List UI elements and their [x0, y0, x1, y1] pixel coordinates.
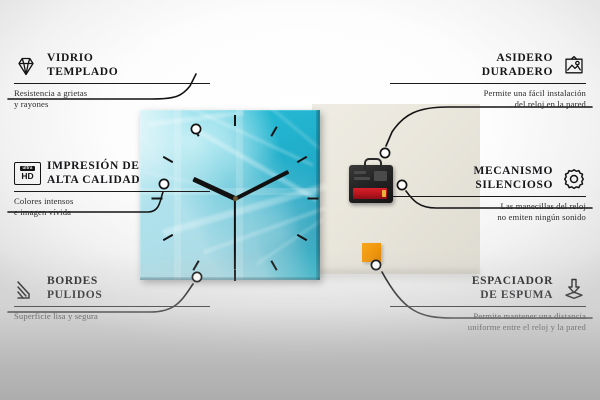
clock-tick	[270, 260, 277, 271]
feature-title-line2: ALTA CALIDAD	[47, 174, 140, 188]
feature-title-line2: PULIDOS	[47, 289, 102, 303]
feature-desc-line1: Las manecillas del reloj	[390, 201, 586, 212]
feature-title-line1: ESPACIADOR	[472, 275, 553, 289]
clock-tick	[308, 198, 319, 200]
feature-mecanismo-silencioso: MECANISMO SILENCIOSO Las manecillas del …	[390, 165, 586, 222]
clock-mechanism	[349, 165, 393, 203]
feature-title-line2: SILENCIOSO	[473, 179, 553, 193]
feature-desc-line2: y rayones	[14, 99, 210, 110]
mechanism-hook	[364, 158, 382, 169]
feature-divider	[14, 306, 210, 307]
feature-title-line1: VIDRIO	[47, 52, 118, 66]
feature-divider	[14, 191, 210, 192]
foam-spacer	[362, 243, 381, 262]
clock-second-hand	[234, 198, 236, 270]
mechanism-battery	[353, 188, 387, 199]
feature-divider	[14, 83, 210, 84]
clock-tick	[192, 260, 199, 271]
feature-divider	[390, 83, 586, 84]
clock-tick	[234, 115, 236, 126]
picture-hanger-icon	[562, 54, 586, 78]
infographic-canvas: VIDRIO TEMPLADO Resistencia a grietas y …	[0, 0, 600, 400]
feature-desc-line1: Permite una fácil instalación	[390, 88, 586, 99]
feature-desc-line2: no emiten ningún sonido	[390, 212, 586, 223]
feature-impresion-alta-calidad: ultra HD IMPRESIÓN DE ALTA CALIDAD Color…	[14, 160, 210, 217]
feature-desc-line2: uniforme entre el reloj y la pared	[390, 322, 586, 333]
down-arrow-spacer-icon	[562, 277, 586, 301]
feature-desc-line2: del reloj en la pared	[390, 99, 586, 110]
clock-center-cap	[233, 196, 238, 201]
feature-divider	[390, 306, 586, 307]
polished-edges-icon	[14, 277, 38, 301]
ultra-hd-icon: ultra HD	[14, 162, 38, 186]
feature-title-line1: ASIDERO	[482, 52, 553, 66]
feature-desc-line1: Permite mantener una distancia	[390, 311, 586, 322]
feature-desc-line1: Colores intensos	[14, 196, 210, 207]
feature-desc-line1: Superficie lisa y segura	[14, 311, 210, 322]
gear-icon	[562, 167, 586, 191]
feature-asidero-duradero: ASIDERO DURADERO Permite una fácil insta…	[390, 52, 586, 109]
feature-title-line2: DE ESPUMA	[472, 289, 553, 303]
feature-desc-line1: Resistencia a grietas	[14, 88, 210, 99]
feature-title-line1: IMPRESIÓN DE	[47, 160, 140, 174]
clock-tick	[234, 270, 236, 281]
feature-bordes-pulidos: BORDES PULIDOS Superficie lisa y segura	[14, 275, 210, 322]
ultra-hd-badge-main: HD	[21, 172, 33, 181]
feature-desc-line2: e imagen vívida	[14, 207, 210, 218]
feature-vidrio-templado: VIDRIO TEMPLADO Resistencia a grietas y …	[14, 52, 210, 109]
feature-divider	[390, 196, 586, 197]
diamond-icon	[14, 54, 38, 78]
feature-espaciador-de-espuma: ESPACIADOR DE ESPUMA Permite mantener un…	[390, 275, 586, 332]
feature-title-line2: TEMPLADO	[47, 66, 118, 80]
feature-title-line1: BORDES	[47, 275, 102, 289]
feature-title-line2: DURADERO	[482, 66, 553, 80]
feature-title-line1: MECANISMO	[473, 165, 553, 179]
clock-tick	[270, 126, 277, 137]
